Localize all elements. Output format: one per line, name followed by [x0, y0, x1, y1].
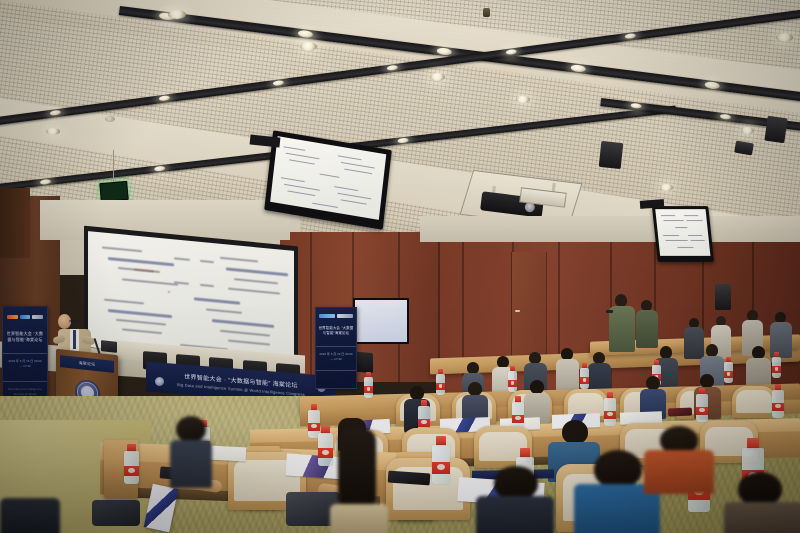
presenter-glasses — [69, 320, 79, 322]
lecture-hall-photograph: 世界智能大会 · “大数据与智能” 海棠论坛 Big Data and Inte… — [0, 0, 800, 533]
water-bottle[interactable] — [696, 388, 708, 422]
rollup-logo-1 — [7, 315, 18, 319]
rollup-logo-3 — [32, 315, 43, 319]
rollup-banner-right: 世界智能大会 “大数据与智能”海棠论坛 2018 年 5 月 16 日 09:0… — [315, 307, 357, 389]
water-bottle[interactable] — [772, 352, 781, 378]
water-bottle[interactable] — [124, 444, 139, 484]
overhead-monitor-right[interactable] — [652, 206, 714, 262]
overhead-monitor-right-screen — [655, 209, 710, 256]
rollup-banner-right-title: 世界智能大会 “大数据与智能”海棠论坛 — [318, 326, 353, 336]
water-bottle[interactable] — [724, 357, 733, 383]
water-bottle[interactable] — [364, 372, 373, 398]
exit-sign-left-stem — [113, 150, 114, 184]
backpack[interactable] — [286, 492, 340, 526]
ceiling-downlight-2 — [300, 42, 317, 51]
handbag[interactable] — [92, 500, 140, 526]
attendee — [636, 300, 658, 348]
door-handle[interactable] — [515, 310, 520, 312]
smartphone[interactable] — [668, 408, 692, 417]
podium-front-panel: 海棠论坛 — [60, 355, 114, 373]
rollup-banner-left-title: 世界智能大会 “大数据与智能”海棠论坛 — [6, 331, 45, 343]
ceiling-speaker-left — [599, 141, 624, 169]
water-bottle[interactable] — [580, 363, 589, 389]
ceiling-speaker-right — [764, 116, 787, 144]
water-bottle[interactable] — [688, 452, 710, 512]
rollup-logo-2 — [20, 315, 31, 319]
water-bottle[interactable] — [512, 396, 524, 430]
chair[interactable] — [620, 423, 678, 465]
rollup-logo-4 — [319, 314, 335, 318]
presenter-necktie — [73, 330, 76, 349]
wall-left-wood-upper — [0, 188, 30, 258]
ceiling-downlight-8 — [741, 127, 754, 134]
attendee — [524, 380, 550, 422]
water-bottle[interactable] — [604, 392, 616, 426]
ceiling-downlight-7 — [776, 33, 793, 42]
attendee-questioner — [609, 294, 635, 354]
water-bottle[interactable] — [432, 436, 450, 484]
podium-front-panel-text: 海棠论坛 — [79, 360, 96, 368]
water-bottle[interactable] — [742, 438, 764, 496]
chair[interactable] — [732, 386, 776, 418]
rollup-banner-right-sub: 2018 年 5 月 16 日 09:00 — 17:30 — [319, 352, 353, 362]
exit-sign-left[interactable] — [99, 181, 129, 202]
water-bottle[interactable] — [318, 426, 333, 466]
ceiling-downlight-5 — [660, 184, 673, 191]
ceiling-downlight-3 — [430, 73, 445, 81]
sprinkler-head-1 — [483, 8, 490, 17]
wall-monitor-stage-right-screen — [355, 300, 407, 342]
rollup-logo-5 — [337, 314, 353, 318]
podium-laptop[interactable] — [101, 340, 117, 353]
wall-monitor-stage-right[interactable] — [353, 298, 409, 344]
overhead-monitor-left-screen — [270, 136, 386, 220]
water-bottle[interactable] — [196, 420, 210, 458]
water-bottle[interactable] — [508, 366, 517, 392]
wall-speaker-right — [715, 284, 731, 310]
sprinkler-head-2 — [105, 116, 115, 122]
handheld-microphone[interactable] — [606, 310, 613, 313]
chair[interactable] — [556, 464, 646, 532]
overhead-monitor-right-mount — [640, 199, 664, 209]
wall-upper-plaster-right — [420, 216, 800, 242]
water-bottle[interactable] — [516, 448, 534, 498]
head-table-emblem — [155, 377, 164, 386]
ceiling-downlight-1 — [168, 10, 186, 19]
water-bottle[interactable] — [772, 384, 784, 418]
ceiling-downlight-6 — [46, 128, 60, 135]
rollup-banner-left-sub: 2018 年 5 月 16 日 09:00 — 17:30 — [7, 359, 44, 369]
water-bottle[interactable] — [436, 369, 445, 395]
ceiling-downlight-4 — [516, 96, 530, 103]
